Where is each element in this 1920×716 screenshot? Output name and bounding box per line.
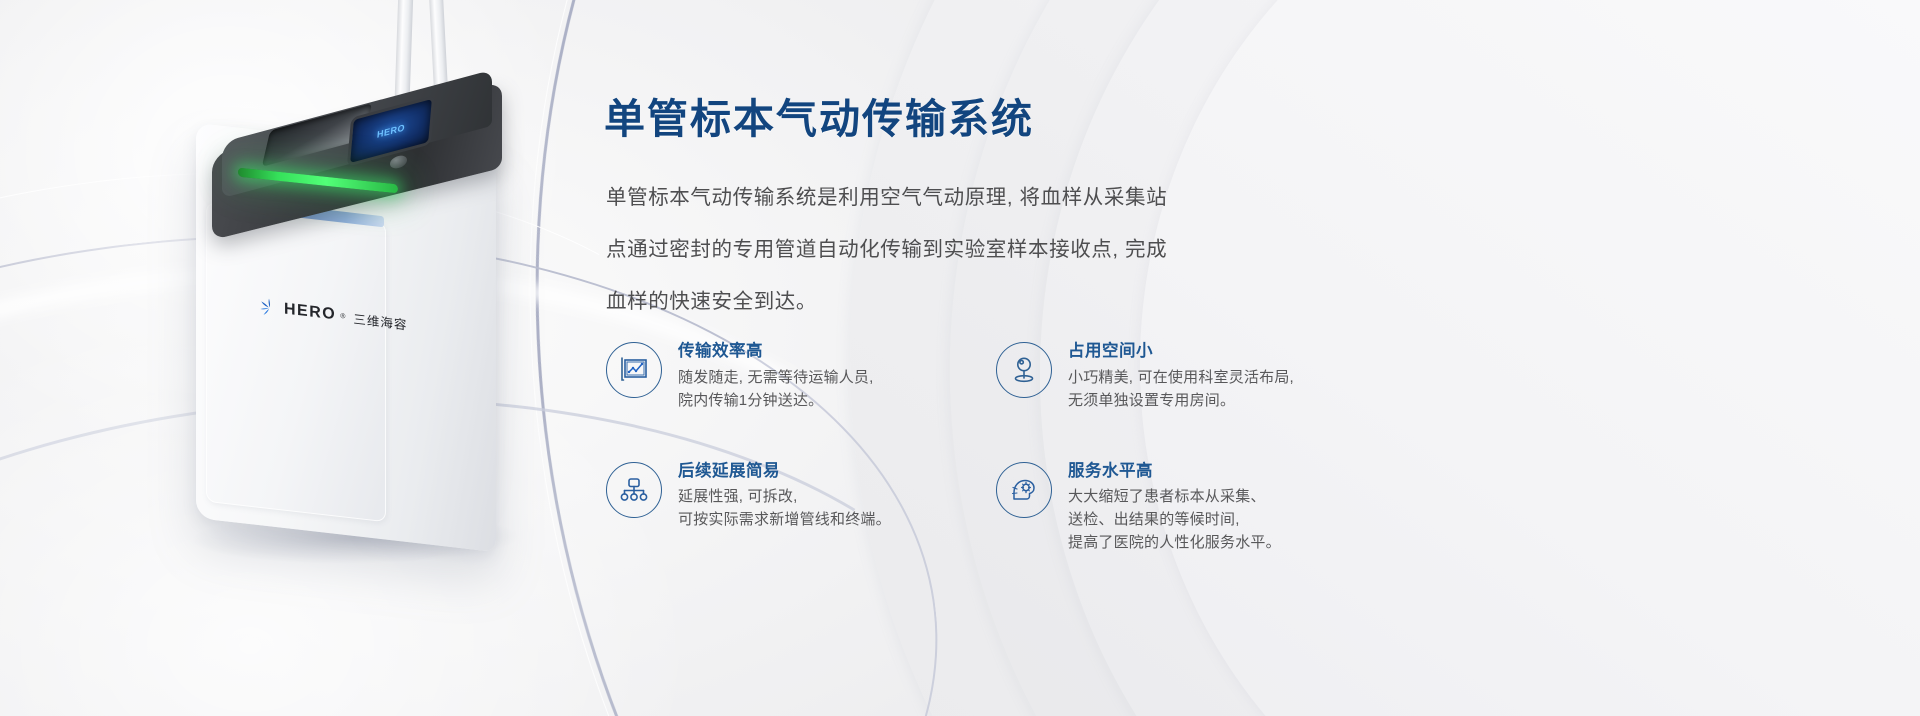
- feature-description: 大大缩短了患者标本从采集、 送检、出结果的等候时间, 提高了医院的人性化服务水平…: [1068, 485, 1281, 554]
- feature-desc-line: 提高了医院的人性化服务水平。: [1068, 531, 1281, 554]
- device-screen-logo: HERO: [377, 122, 406, 140]
- device-brand-registered: ®: [340, 312, 345, 320]
- feature-item-service-level[interactable]: 服务水平高 大大缩短了患者标本从采集、 送检、出结果的等候时间, 提高了医院的人…: [996, 460, 1346, 555]
- feature-description: 小巧精美, 可在使用科室灵活布局, 无须单独设置专用房间。: [1068, 366, 1294, 412]
- space-pin-icon: [996, 342, 1052, 398]
- feature-text: 服务水平高 大大缩短了患者标本从采集、 送检、出结果的等候时间, 提高了医院的人…: [1068, 460, 1281, 555]
- feature-desc-line: 随发随走, 无需等待运输人员,: [678, 366, 874, 389]
- content-column: 单管标本气动传输系统 单管标本气动传输系统是利用空气气动原理, 将血样从采集站 …: [604, 0, 1364, 716]
- hero-petal-icon: [258, 296, 280, 319]
- feature-text: 后续延展简易 延展性强, 可拆改, 可按实际需求新增管线和终端。: [678, 460, 891, 532]
- chart-trend-icon: [606, 342, 662, 398]
- description-line-2: 点通过密封的专用管道自动化传输到实验室样本接收点, 完成: [606, 224, 1266, 276]
- feature-desc-line: 延展性强, 可拆改,: [678, 485, 891, 508]
- page-description: 单管标本气动传输系统是利用空气气动原理, 将血样从采集站 点通过密封的专用管道自…: [606, 172, 1266, 328]
- feature-text: 传输效率高 随发随走, 无需等待运输人员, 院内传输1分钟送达。: [678, 340, 874, 412]
- feature-title: 后续延展简易: [678, 461, 891, 482]
- feature-title: 占用空间小: [1068, 341, 1294, 362]
- network-tree-icon: [606, 462, 662, 518]
- description-line-1: 单管标本气动传输系统是利用空气气动原理, 将血样从采集站: [606, 172, 1266, 224]
- feature-desc-line: 无须单独设置专用房间。: [1068, 389, 1294, 412]
- feature-desc-line: 可按实际需求新增管线和终端。: [678, 508, 891, 531]
- feature-item-easy-extension[interactable]: 后续延展简易 延展性强, 可拆改, 可按实际需求新增管线和终端。: [606, 460, 996, 555]
- feature-text: 占用空间小 小巧精美, 可在使用科室灵活布局, 无须单独设置专用房间。: [1068, 340, 1294, 412]
- feature-grid: 传输效率高 随发随走, 无需等待运输人员, 院内传输1分钟送达。: [606, 340, 1346, 554]
- feature-item-transmission-efficiency[interactable]: 传输效率高 随发随走, 无需等待运输人员, 院内传输1分钟送达。: [606, 340, 996, 412]
- feature-description: 延展性强, 可拆改, 可按实际需求新增管线和终端。: [678, 485, 891, 531]
- device-front-panel: [206, 202, 386, 523]
- banner-stage: HERO HERO ® 三维海容 单管标本气动传输系统 单管标本气动传输系统是利…: [0, 0, 1920, 716]
- feature-desc-line: 大大缩短了患者标本从采集、: [1068, 485, 1281, 508]
- feature-desc-line: 送检、出结果的等候时间,: [1068, 508, 1281, 531]
- service-head-gear-icon: [996, 462, 1052, 518]
- feature-description: 随发随走, 无需等待运输人员, 院内传输1分钟送达。: [678, 366, 874, 412]
- page-title: 单管标本气动传输系统: [604, 95, 1034, 144]
- description-line-3: 血样的快速安全到达。: [606, 276, 1266, 328]
- feature-title: 传输效率高: [678, 341, 874, 362]
- feature-desc-line: 小巧精美, 可在使用科室灵活布局,: [1068, 366, 1294, 389]
- product-device-illustration: HERO HERO ® 三维海容: [0, 0, 600, 716]
- feature-title: 服务水平高: [1068, 461, 1281, 482]
- feature-desc-line: 院内传输1分钟送达。: [678, 389, 874, 412]
- feature-item-small-footprint[interactable]: 占用空间小 小巧精美, 可在使用科室灵活布局, 无须单独设置专用房间。: [996, 340, 1346, 412]
